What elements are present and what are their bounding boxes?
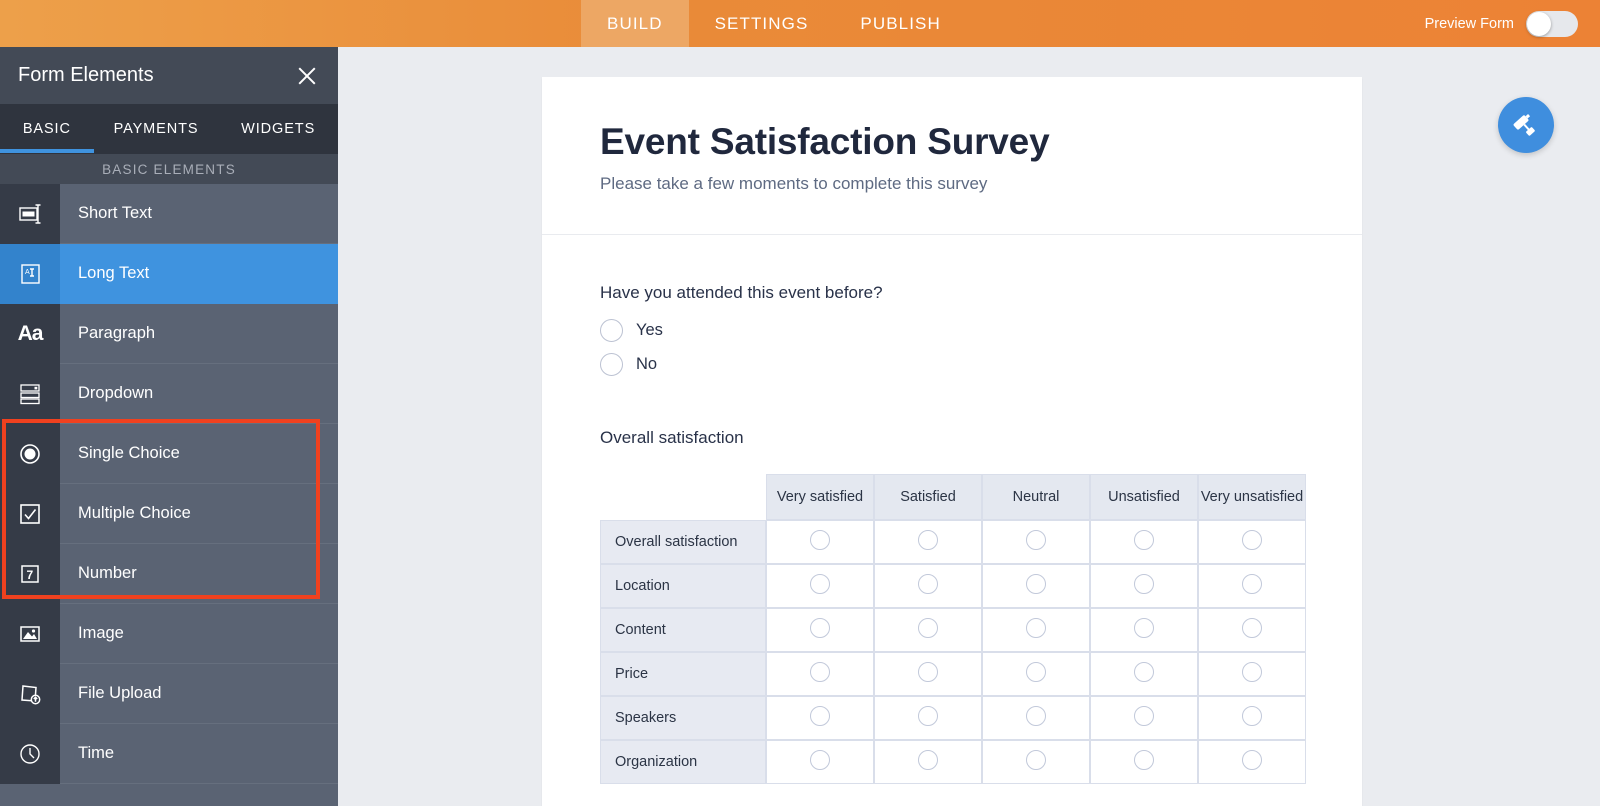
matrix-col-unsatisfied: Unsatisfied bbox=[1090, 474, 1198, 520]
matrix-row-label: Speakers bbox=[600, 696, 766, 740]
form-header: Event Satisfaction Survey Please take a … bbox=[542, 77, 1362, 235]
matrix-row-label: Price bbox=[600, 652, 766, 696]
matrix-cell[interactable] bbox=[766, 652, 874, 696]
table-row: Content bbox=[600, 608, 1306, 652]
element-item-single-choice-label: Single Choice bbox=[60, 424, 338, 484]
table-row: Organization bbox=[600, 740, 1306, 784]
panel-header: Form Elements bbox=[0, 47, 338, 104]
matrix-radio-icon[interactable] bbox=[1026, 618, 1046, 638]
matrix-radio-icon[interactable] bbox=[810, 618, 830, 638]
element-item-long-text-label: Long Text bbox=[60, 244, 338, 304]
matrix-radio-icon[interactable] bbox=[1242, 618, 1262, 638]
matrix-cell[interactable] bbox=[1090, 520, 1198, 564]
matrix-cell[interactable] bbox=[1198, 520, 1306, 564]
element-item-time[interactable]: Time bbox=[0, 724, 338, 784]
matrix-question-label: Overall satisfaction bbox=[600, 428, 1304, 448]
matrix-cell[interactable] bbox=[766, 608, 874, 652]
matrix-col-very-satisfied: Very satisfied bbox=[766, 474, 874, 520]
matrix-header-row: Very satisfied Satisfied Neutral Unsatis… bbox=[600, 474, 1306, 520]
matrix-radio-icon[interactable] bbox=[1134, 706, 1154, 726]
matrix-radio-icon[interactable] bbox=[1242, 662, 1262, 682]
matrix-radio-icon[interactable] bbox=[1242, 750, 1262, 770]
matrix-radio-icon[interactable] bbox=[1134, 574, 1154, 594]
option-no[interactable]: No bbox=[600, 353, 1304, 376]
form-subtitle: Please take a few moments to complete th… bbox=[600, 174, 1304, 194]
matrix-head: Very satisfied Satisfied Neutral Unsatis… bbox=[600, 474, 1306, 520]
matrix-radio-icon[interactable] bbox=[1026, 530, 1046, 550]
matrix-cell[interactable] bbox=[982, 652, 1090, 696]
matrix-radio-icon[interactable] bbox=[810, 662, 830, 682]
tab-build-label: BUILD bbox=[607, 14, 663, 34]
panel-tab-widgets[interactable]: WIDGETS bbox=[218, 106, 338, 153]
element-item-short-text[interactable]: Short Text bbox=[0, 184, 338, 244]
matrix-radio-icon[interactable] bbox=[810, 574, 830, 594]
tab-publish-label: PUBLISH bbox=[860, 14, 940, 34]
form-elements-panel: Form Elements BASIC PAYMENTS WIDGETS BAS… bbox=[0, 47, 338, 806]
panel-tabs: BASIC PAYMENTS WIDGETS bbox=[0, 104, 338, 154]
matrix-cell[interactable] bbox=[982, 740, 1090, 784]
option-no-label: No bbox=[636, 355, 657, 374]
tab-settings-label: SETTINGS bbox=[715, 14, 809, 34]
element-list: Short Text A Long Text Aa Paragraph bbox=[0, 184, 338, 784]
element-item-image-label: Image bbox=[60, 604, 338, 664]
clock-icon bbox=[0, 724, 60, 784]
element-item-multiple-choice[interactable]: Multiple Choice bbox=[0, 484, 338, 544]
paragraph-icon: Aa bbox=[0, 304, 60, 364]
element-item-file-upload-label: File Upload bbox=[60, 664, 338, 724]
preview-form-label: Preview Form bbox=[1425, 16, 1514, 32]
matrix-cell[interactable] bbox=[1090, 564, 1198, 608]
matrix-row-label: Overall satisfaction bbox=[600, 520, 766, 564]
matrix-radio-icon[interactable] bbox=[918, 662, 938, 682]
element-item-number-label: Number bbox=[60, 544, 338, 604]
matrix-cell[interactable] bbox=[766, 520, 874, 564]
matrix-radio-icon[interactable] bbox=[810, 530, 830, 550]
form-preview-card: Event Satisfaction Survey Please take a … bbox=[542, 77, 1362, 806]
matrix-radio-icon[interactable] bbox=[1242, 706, 1262, 726]
matrix-radio-icon[interactable] bbox=[918, 750, 938, 770]
matrix-radio-icon[interactable] bbox=[918, 618, 938, 638]
matrix-row-label: Location bbox=[600, 564, 766, 608]
preview-form-control: Preview Form bbox=[1425, 0, 1600, 47]
question-attended-before: Have you attended this event before? Yes… bbox=[600, 283, 1304, 376]
panel-title: Form Elements bbox=[18, 64, 294, 87]
element-item-number[interactable]: 7 Number bbox=[0, 544, 338, 604]
main-nav-tabs: BUILD SETTINGS PUBLISH bbox=[581, 0, 967, 47]
table-row: Overall satisfaction bbox=[600, 520, 1306, 564]
svg-text:7: 7 bbox=[27, 568, 34, 582]
matrix-radio-icon[interactable] bbox=[1026, 706, 1046, 726]
form-body: Have you attended this event before? Yes… bbox=[542, 235, 1362, 804]
form-canvas: Event Satisfaction Survey Please take a … bbox=[338, 47, 1600, 806]
matrix-radio-icon[interactable] bbox=[918, 530, 938, 550]
section-header-basic-elements: BASIC ELEMENTS bbox=[0, 154, 338, 184]
panel-tab-basic[interactable]: BASIC bbox=[0, 106, 94, 153]
matrix-radio-icon[interactable] bbox=[1134, 662, 1154, 682]
matrix-radio-icon[interactable] bbox=[1134, 530, 1154, 550]
tab-settings[interactable]: SETTINGS bbox=[689, 0, 835, 47]
matrix-cell[interactable] bbox=[1090, 740, 1198, 784]
matrix-cell[interactable] bbox=[1198, 608, 1306, 652]
toggle-knob bbox=[1527, 12, 1551, 36]
form-title: Event Satisfaction Survey bbox=[600, 121, 1304, 163]
matrix-radio-icon[interactable] bbox=[1026, 750, 1046, 770]
preview-form-toggle[interactable] bbox=[1526, 11, 1578, 37]
matrix-row-label: Organization bbox=[600, 740, 766, 784]
question-overall-satisfaction: Overall satisfaction Very satisfied Sati… bbox=[600, 428, 1304, 784]
image-icon bbox=[0, 604, 60, 664]
tab-build[interactable]: BUILD bbox=[581, 0, 689, 47]
matrix-radio-icon[interactable] bbox=[918, 706, 938, 726]
element-item-paragraph[interactable]: Aa Paragraph bbox=[0, 304, 338, 364]
matrix-cell[interactable] bbox=[1198, 740, 1306, 784]
panel-tab-widgets-label: WIDGETS bbox=[241, 121, 315, 137]
matrix-cell[interactable] bbox=[874, 740, 982, 784]
long-text-icon: A bbox=[0, 244, 60, 304]
matrix-cell[interactable] bbox=[874, 652, 982, 696]
option-yes[interactable]: Yes bbox=[600, 319, 1304, 342]
matrix-cell[interactable] bbox=[766, 564, 874, 608]
element-item-short-text-label: Short Text bbox=[60, 184, 338, 244]
top-bar-left-spacer bbox=[0, 0, 581, 47]
form-designer-button[interactable] bbox=[1498, 97, 1554, 153]
panel-tab-payments-label: PAYMENTS bbox=[114, 121, 199, 137]
matrix-cell[interactable] bbox=[1090, 608, 1198, 652]
top-bar: BUILD SETTINGS PUBLISH Preview Form bbox=[0, 0, 1600, 47]
matrix-row-label: Content bbox=[600, 608, 766, 652]
matrix-cell[interactable] bbox=[1198, 564, 1306, 608]
element-item-file-upload[interactable]: File Upload bbox=[0, 664, 338, 724]
element-item-image[interactable]: Image bbox=[0, 604, 338, 664]
element-item-dropdown-label: Dropdown bbox=[60, 364, 338, 424]
matrix-body: Overall satisfaction Location bbox=[600, 520, 1306, 784]
matrix-cell[interactable] bbox=[982, 608, 1090, 652]
matrix-col-very-unsatisfied: Very unsatisfied bbox=[1198, 474, 1306, 520]
matrix-cell[interactable] bbox=[766, 696, 874, 740]
close-icon[interactable] bbox=[294, 63, 320, 89]
matrix-col-neutral: Neutral bbox=[982, 474, 1090, 520]
table-row: Speakers bbox=[600, 696, 1306, 740]
satisfaction-matrix-table: Very satisfied Satisfied Neutral Unsatis… bbox=[600, 474, 1306, 784]
matrix-cell[interactable] bbox=[766, 740, 874, 784]
paint-roller-icon bbox=[1512, 111, 1540, 139]
element-item-multiple-choice-label: Multiple Choice bbox=[60, 484, 338, 544]
element-item-paragraph-label: Paragraph bbox=[60, 304, 338, 364]
element-item-dropdown[interactable]: Dropdown bbox=[0, 364, 338, 424]
element-item-single-choice[interactable]: Single Choice bbox=[0, 424, 338, 484]
radio-no-icon[interactable] bbox=[600, 353, 623, 376]
matrix-col-satisfied: Satisfied bbox=[874, 474, 982, 520]
dropdown-icon bbox=[0, 364, 60, 424]
panel-tab-basic-label: BASIC bbox=[23, 121, 71, 137]
element-item-time-label: Time bbox=[60, 724, 338, 784]
short-text-icon bbox=[0, 184, 60, 244]
matrix-cell[interactable] bbox=[982, 696, 1090, 740]
radio-button-icon bbox=[0, 424, 60, 484]
checkbox-icon bbox=[0, 484, 60, 544]
matrix-cell[interactable] bbox=[1198, 696, 1306, 740]
element-item-long-text[interactable]: A Long Text bbox=[0, 244, 338, 304]
matrix-radio-icon[interactable] bbox=[1242, 530, 1262, 550]
matrix-cell[interactable] bbox=[874, 564, 982, 608]
radio-yes-icon[interactable] bbox=[600, 319, 623, 342]
matrix-cell[interactable] bbox=[982, 520, 1090, 564]
matrix-radio-icon[interactable] bbox=[810, 750, 830, 770]
matrix-radio-icon[interactable] bbox=[1134, 618, 1154, 638]
svg-text:A: A bbox=[25, 269, 30, 276]
matrix-corner-cell bbox=[600, 474, 766, 520]
file-upload-icon bbox=[0, 664, 60, 724]
matrix-cell[interactable] bbox=[982, 564, 1090, 608]
matrix-cell[interactable] bbox=[874, 520, 982, 564]
matrix-cell[interactable] bbox=[1198, 652, 1306, 696]
panel-tab-payments[interactable]: PAYMENTS bbox=[94, 106, 219, 153]
tab-publish[interactable]: PUBLISH bbox=[834, 0, 966, 47]
matrix-radio-icon[interactable] bbox=[1026, 574, 1046, 594]
option-yes-label: Yes bbox=[636, 321, 663, 340]
table-row: Price bbox=[600, 652, 1306, 696]
matrix-radio-icon[interactable] bbox=[1242, 574, 1262, 594]
matrix-radio-icon[interactable] bbox=[1134, 750, 1154, 770]
matrix-cell[interactable] bbox=[1090, 696, 1198, 740]
question-attended-before-label: Have you attended this event before? bbox=[600, 283, 1304, 303]
number-icon: 7 bbox=[0, 544, 60, 604]
matrix-cell[interactable] bbox=[874, 696, 982, 740]
matrix-cell[interactable] bbox=[1090, 652, 1198, 696]
table-row: Location bbox=[600, 564, 1306, 608]
matrix-cell[interactable] bbox=[874, 608, 982, 652]
matrix-radio-icon[interactable] bbox=[1026, 662, 1046, 682]
matrix-radio-icon[interactable] bbox=[810, 706, 830, 726]
matrix-radio-icon[interactable] bbox=[918, 574, 938, 594]
